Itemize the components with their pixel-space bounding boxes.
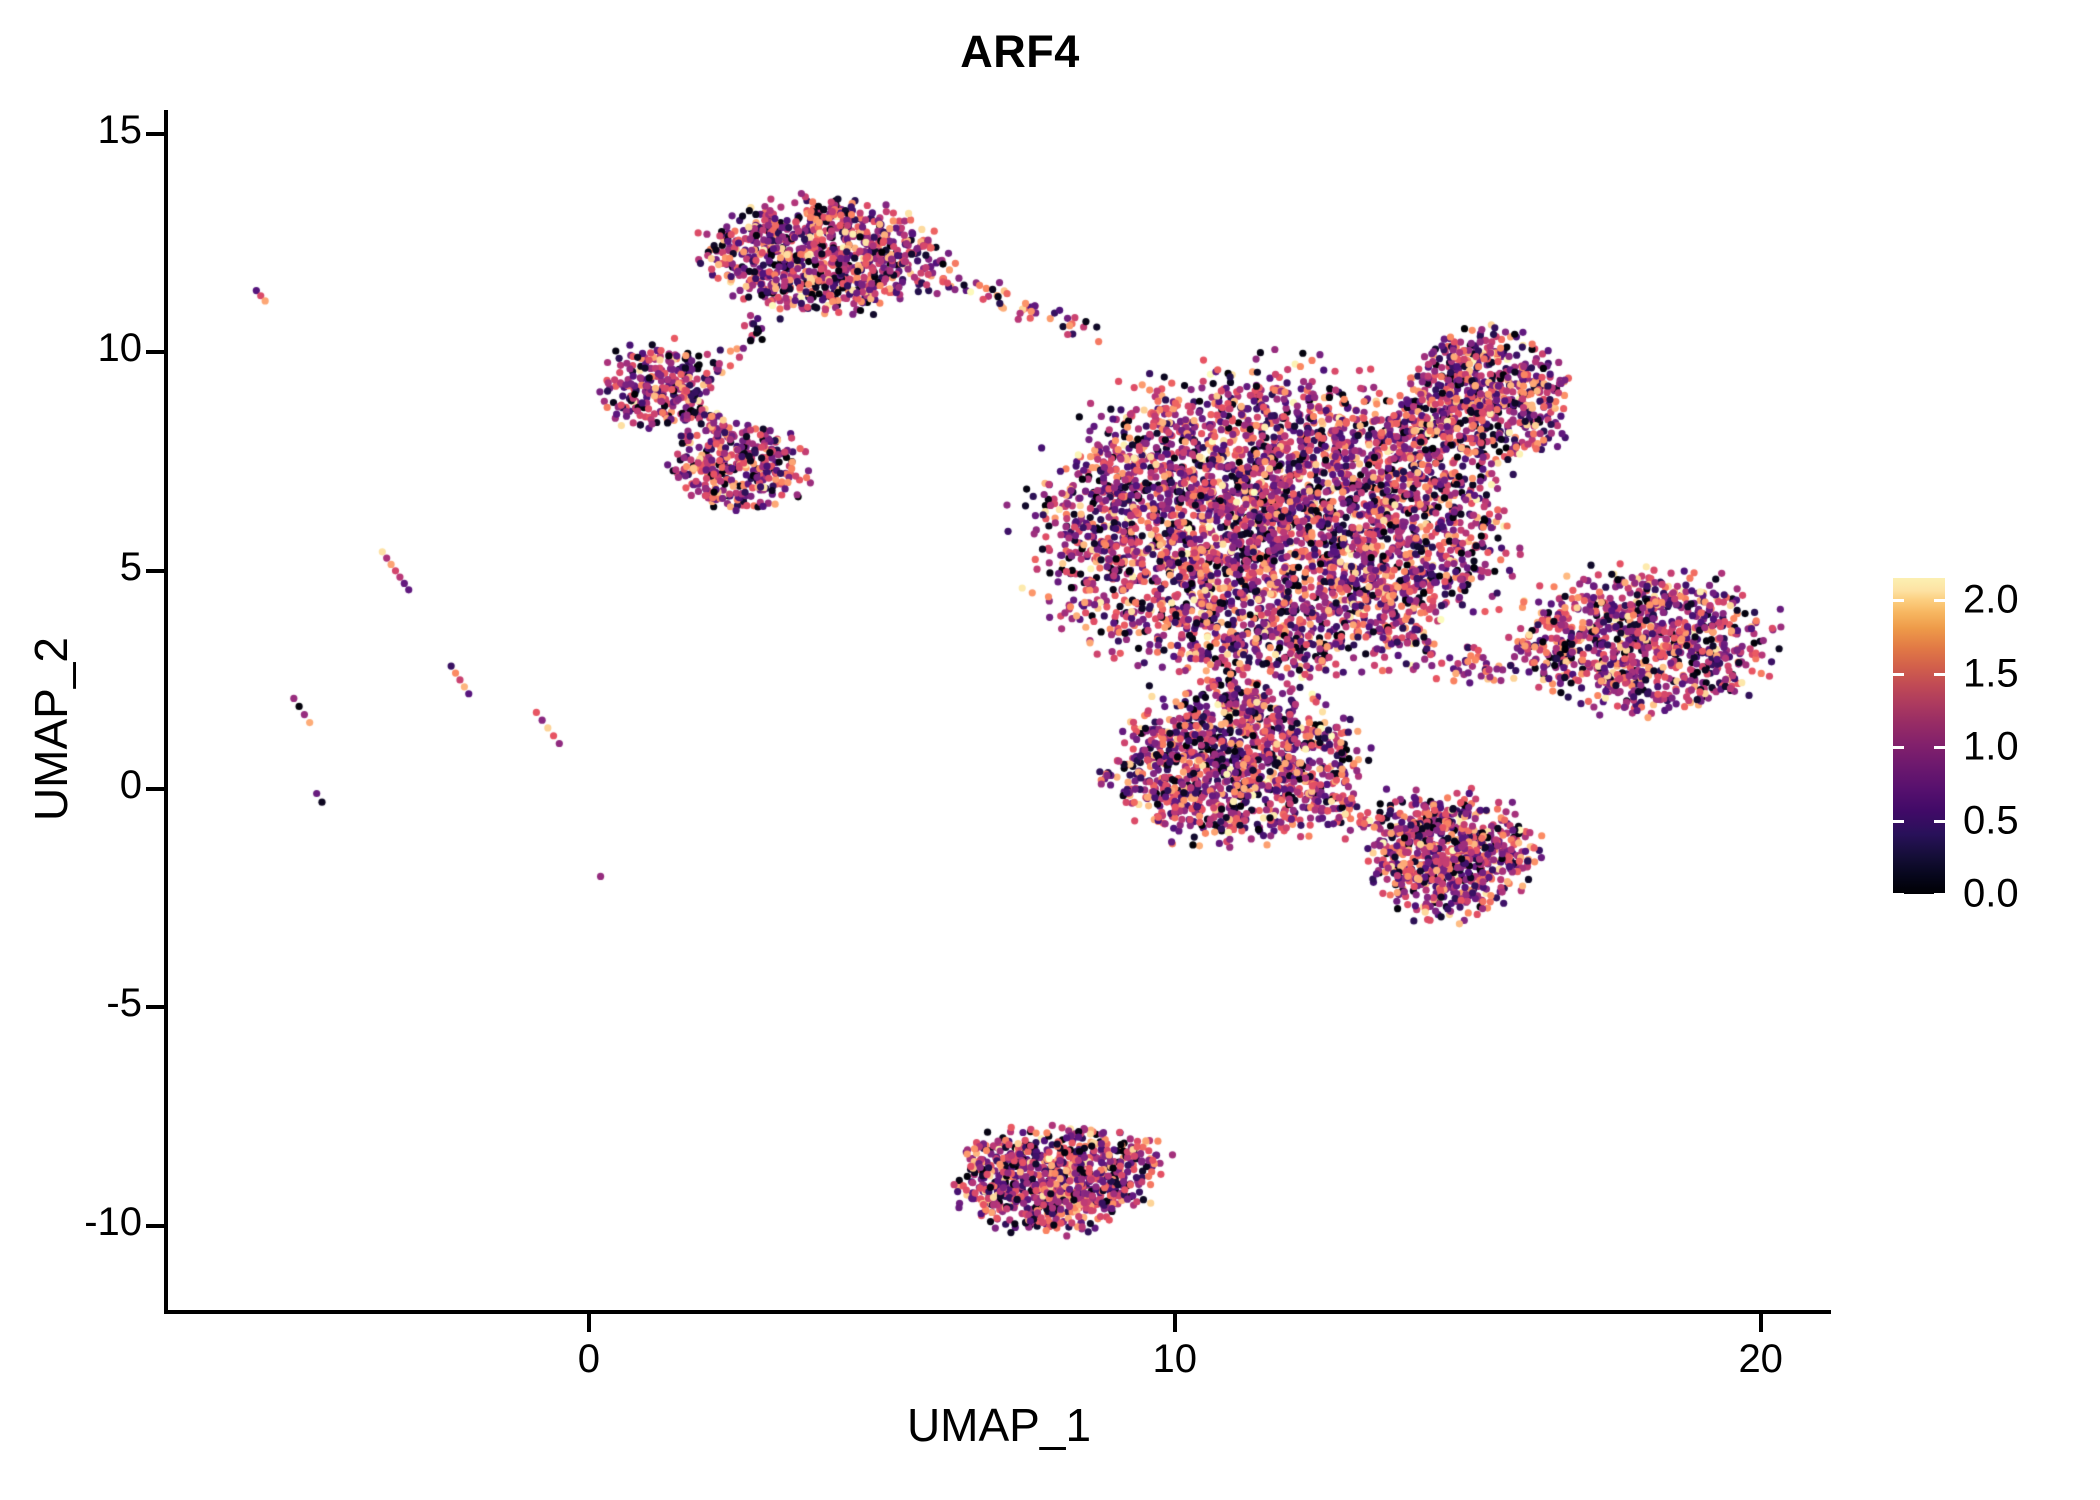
colorbar-tick-label: 1.5 [1963, 651, 2019, 696]
y-tick-label: 10 [98, 326, 143, 371]
y-tick-mark [146, 787, 165, 791]
y-tick-mark [146, 1224, 165, 1228]
x-tick-mark [587, 1313, 591, 1332]
figure-root: ARF4 -10-5051015 01020 UMAP_1 UMAP_2 0.0… [0, 0, 2100, 1500]
page-title: ARF4 [0, 26, 2040, 78]
colorbar-tick-label: 0.5 [1963, 798, 2019, 843]
y-tick-label: 0 [120, 763, 142, 808]
x-tick-mark [1759, 1313, 1763, 1332]
colorbar-gradient [1893, 578, 1945, 894]
x-tick-mark [1173, 1313, 1177, 1332]
y-tick-label: 5 [120, 545, 142, 590]
x-tick-label: 0 [489, 1337, 689, 1382]
x-axis-line [164, 1310, 1831, 1314]
colorbar-tick-label: 1.0 [1963, 725, 2019, 770]
x-axis-title: UMAP_1 [167, 1398, 1831, 1452]
y-axis-line [164, 110, 168, 1314]
plot-panel [167, 108, 1831, 1313]
y-tick-mark [146, 569, 165, 573]
colorbar-tick-label: 0.0 [1963, 872, 2019, 917]
scatter-plot-canvas [167, 108, 1831, 1313]
y-tick-label: -10 [84, 1200, 142, 1245]
colorbar-tick-label: 2.0 [1963, 578, 2019, 623]
y-tick-label: 15 [98, 108, 143, 153]
y-tick-label: -5 [106, 981, 142, 1026]
y-tick-mark [146, 350, 165, 354]
x-tick-label: 10 [1075, 1337, 1275, 1382]
x-tick-label: 20 [1661, 1337, 1861, 1382]
y-tick-mark [146, 132, 165, 136]
y-axis-title: UMAP_2 [24, 329, 78, 1129]
color-legend: 0.00.51.01.52.0 [1893, 578, 2093, 898]
y-tick-mark [146, 1005, 165, 1009]
